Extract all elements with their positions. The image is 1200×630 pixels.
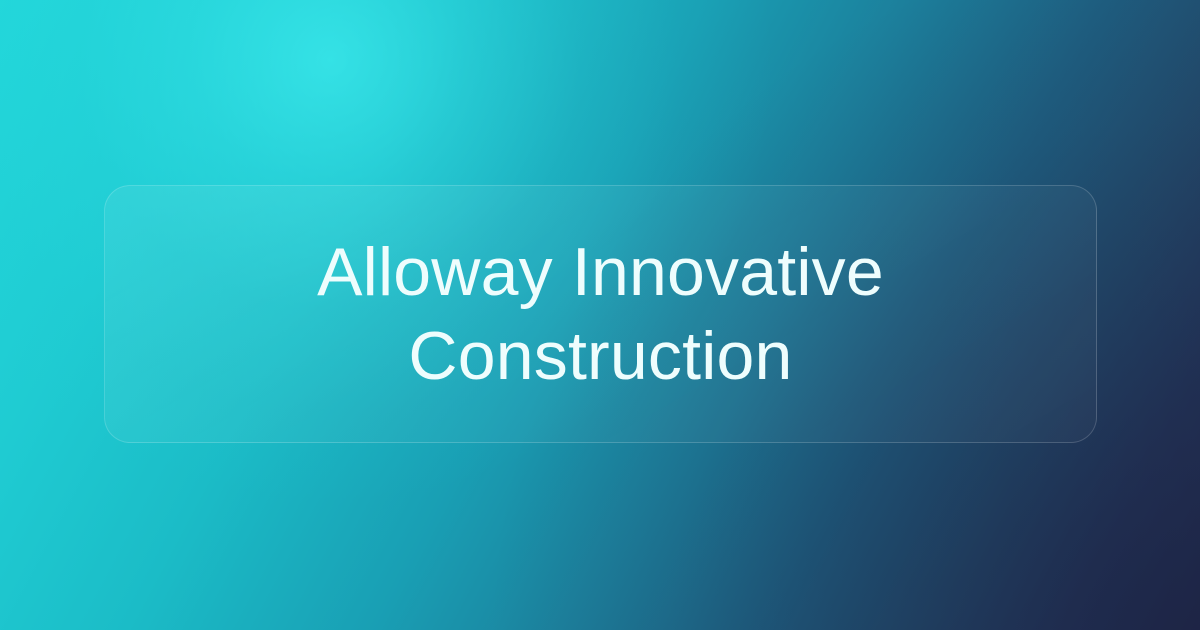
page-title-line-1: Alloway Innovative: [139, 230, 1062, 314]
page-title: Alloway Innovative Construction: [139, 230, 1062, 398]
share-card-canvas: Alloway Innovative Construction: [0, 0, 1200, 630]
page-title-line-2: Construction: [139, 314, 1062, 398]
glass-panel: Alloway Innovative Construction: [104, 185, 1097, 443]
glass-panel-content: Alloway Innovative Construction: [105, 230, 1096, 398]
